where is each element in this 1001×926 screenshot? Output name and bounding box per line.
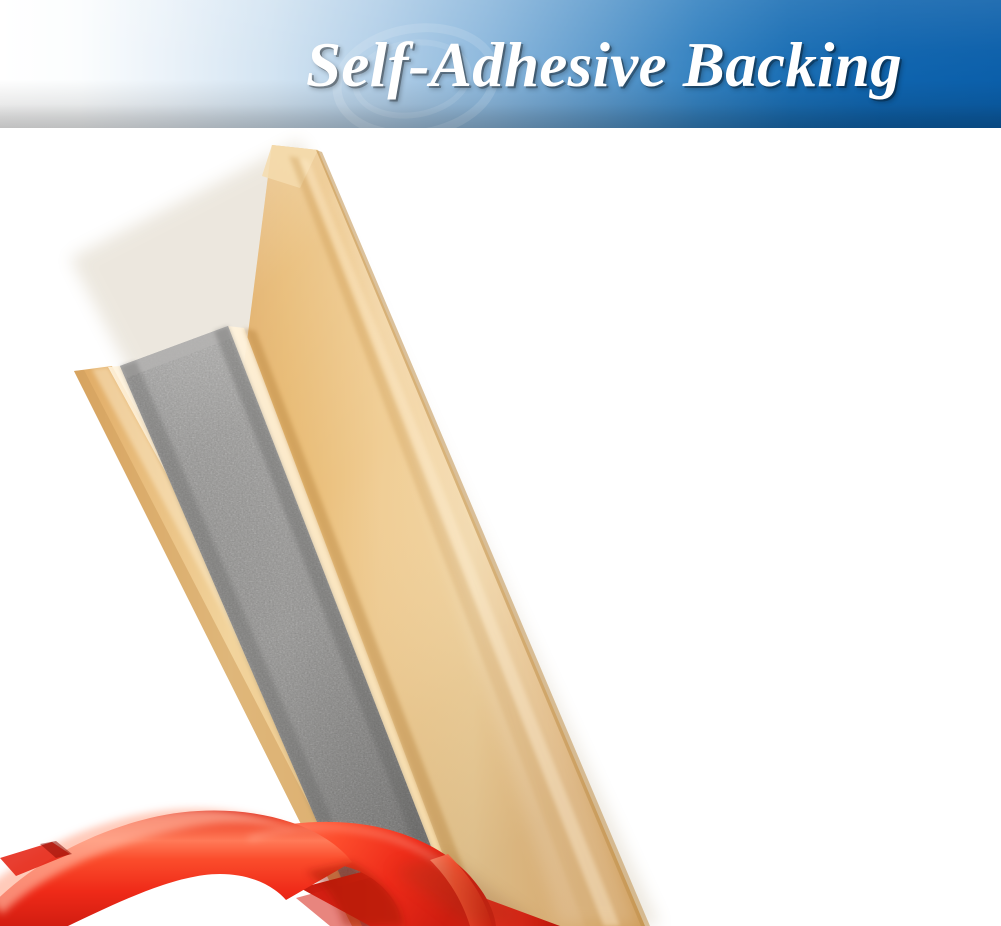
product-photo-illustration [0,128,1001,926]
page-title: Self-Adhesive Backing [306,22,996,108]
header-banner: Self-Adhesive Backing [0,0,1001,128]
product-photo [0,128,1001,926]
product-feature-image: Self-Adhesive Backing The flexible floor… [0,0,1001,926]
